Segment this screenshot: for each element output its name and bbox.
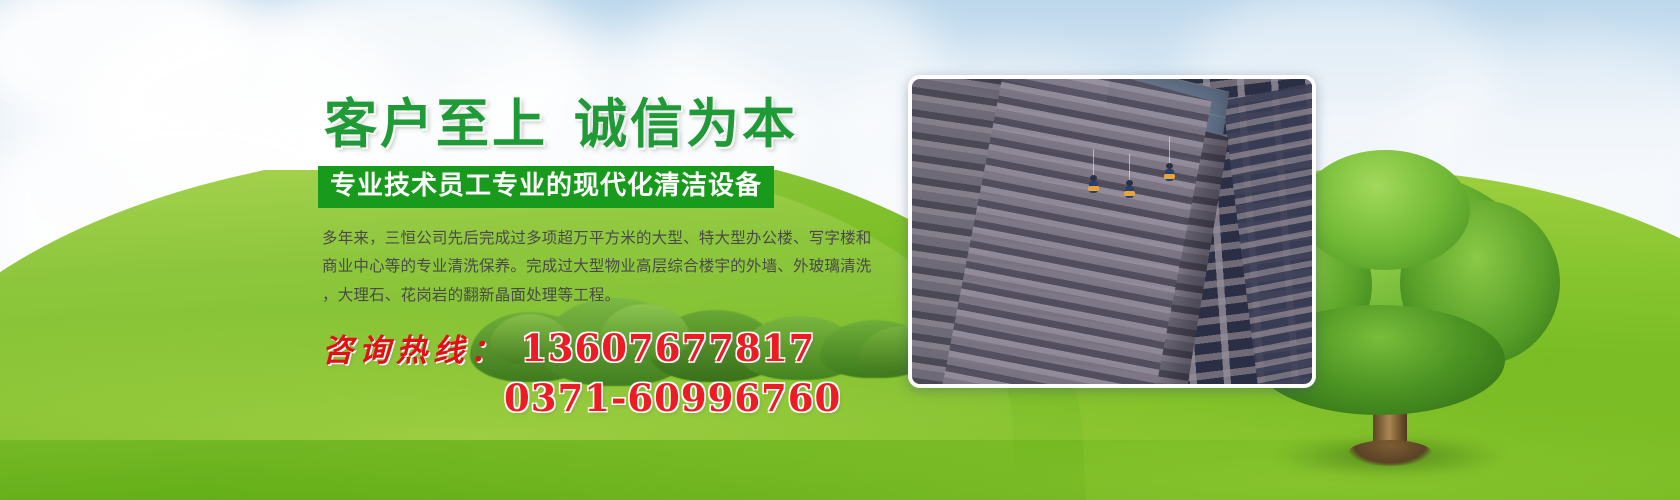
description-line-3: ，大理石、花岗岩的翻新晶面处理等工程。 xyxy=(322,281,882,309)
window-cleaner-worker xyxy=(1164,163,1175,185)
description-line-1: 多年来，三恒公司先后完成过多项超万平方米的大型、特大型办公楼、写字楼和 xyxy=(322,224,882,252)
hotline-landline-number[interactable]: 0371-60996760 xyxy=(504,376,841,420)
window-cleaner-worker xyxy=(1088,175,1099,197)
hotline-label: 咨询热线： xyxy=(322,333,507,369)
hotline-mobile-number[interactable]: 13607677817 xyxy=(521,326,815,370)
banner-copy: 客户至上诚信为本 专业技术员工专业的现代化清洁设备 多年来，三恒公司先后完成过多… xyxy=(318,96,908,420)
description-paragraph: 多年来，三恒公司先后完成过多项超万平方米的大型、特大型办公楼、写字楼和 商业中心… xyxy=(322,224,882,309)
worker-equipment xyxy=(1088,186,1099,191)
high-rise-window-cleaning-photo[interactable] xyxy=(908,75,1316,388)
promo-banner: 客户至上诚信为本 专业技术员工专业的现代化清洁设备 多年来，三恒公司先后完成过多… xyxy=(0,0,1680,500)
worker-equipment xyxy=(1124,191,1135,196)
headline: 客户至上诚信为本 xyxy=(324,96,908,152)
window-cleaner-worker xyxy=(1124,180,1135,202)
hotline-row-secondary: 0371-60996760 xyxy=(504,376,908,420)
subheadline-bar: 专业技术员工专业的现代化清洁设备 xyxy=(318,166,774,208)
hotline-row-primary: 咨询热线：13607677817 xyxy=(322,325,908,370)
headline-part-1: 客户至上 xyxy=(324,93,548,155)
tree-canopy xyxy=(1300,150,1470,270)
headline-part-2: 诚信为本 xyxy=(574,93,798,155)
tree-roots xyxy=(1348,440,1432,466)
description-line-2: 商业中心等的专业清洗保养。完成过大型物业高层综合楼宇的外墙、外玻璃清洗 xyxy=(322,252,882,280)
photo-content xyxy=(912,79,1312,384)
worker-equipment xyxy=(1164,174,1175,179)
